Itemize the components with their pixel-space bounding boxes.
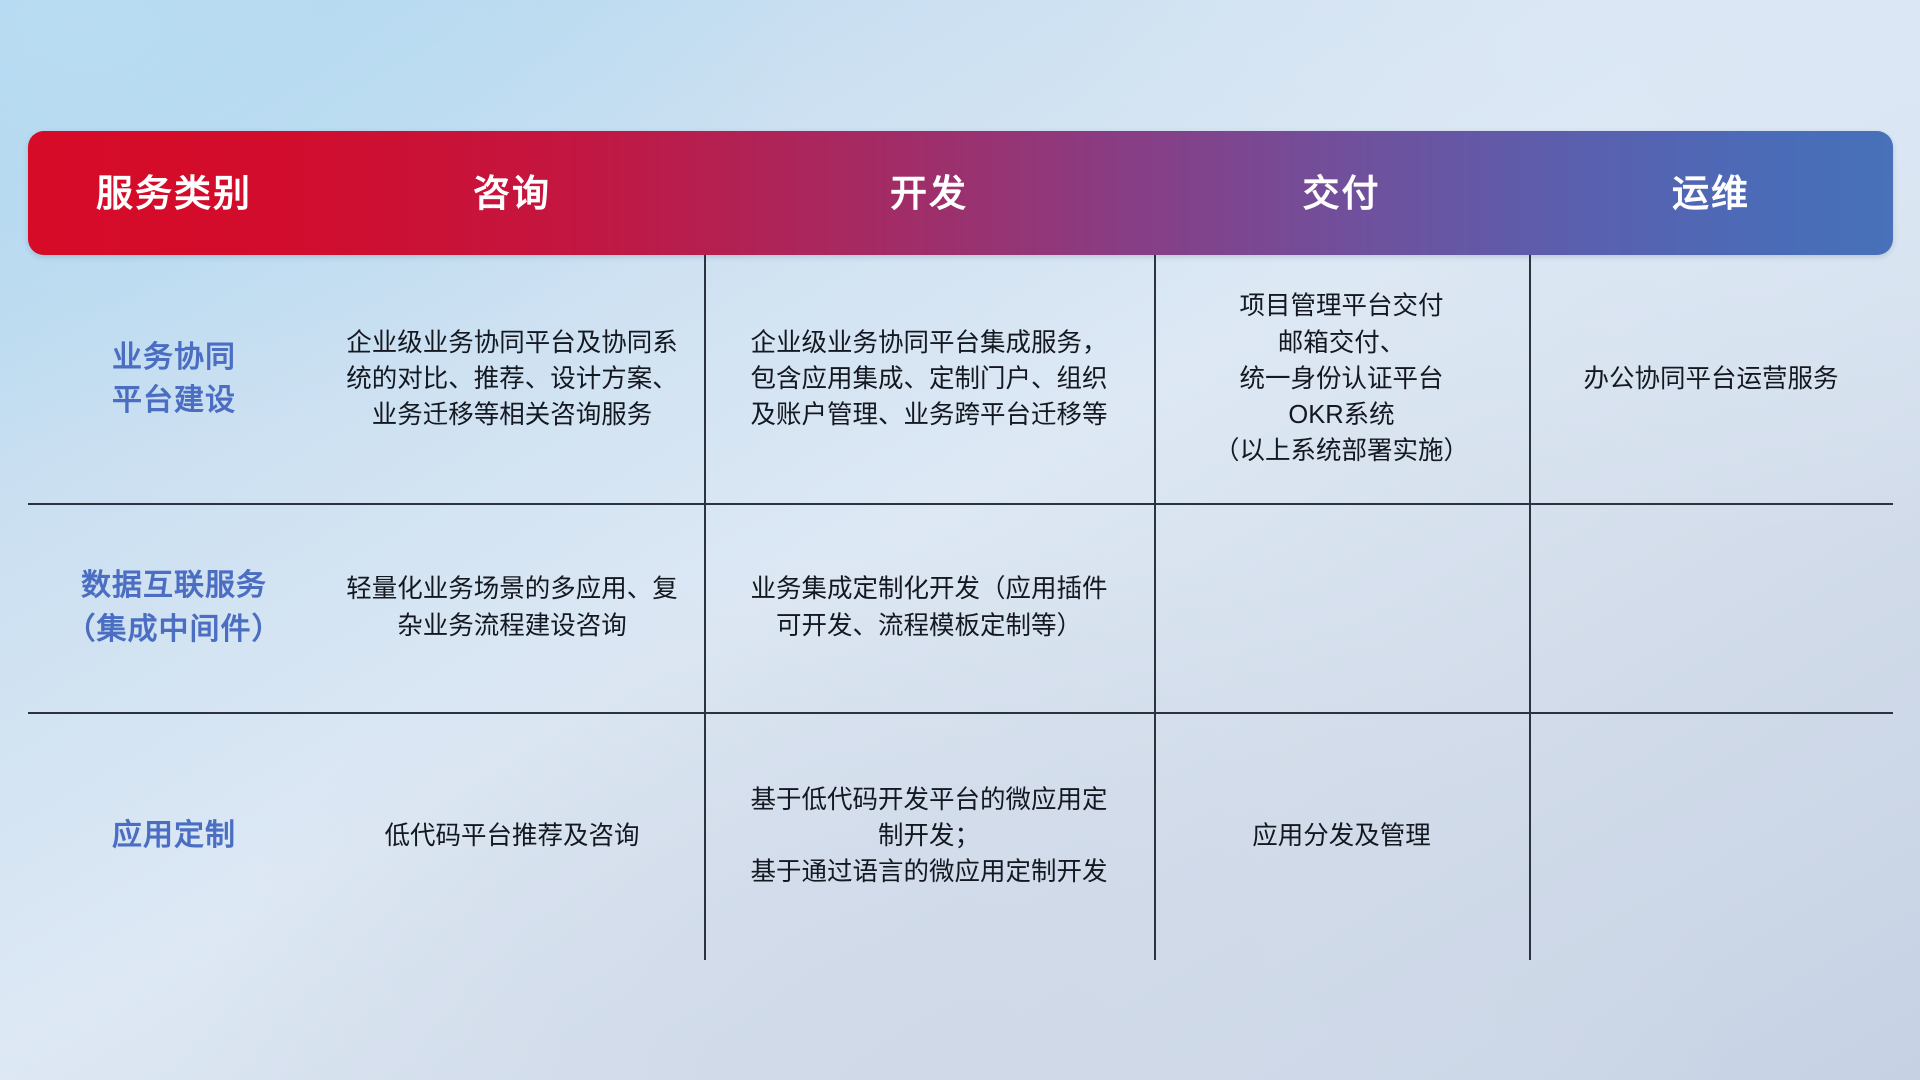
cell-r2-delivery — [1154, 503, 1529, 712]
table-row: 应用定制 低代码平台推荐及咨询 基于低代码开发平台的微应用定 制开发； 基于通过… — [28, 712, 1893, 960]
row-label-data-integration: 数据互联服务 （集成中间件） — [28, 503, 320, 712]
column-header-consulting: 咨询 — [320, 175, 704, 212]
cell-r1-operations: 办公协同平台运营服务 — [1529, 255, 1893, 503]
service-matrix-table: 服务类别 咨询 开发 交付 运维 业务协同 平台建设 企业级业务协同平台及协同系… — [28, 131, 1893, 960]
row-label-business-collaboration: 业务协同 平台建设 — [28, 255, 320, 503]
cell-r1-delivery: 项目管理平台交付 邮箱交付、 统一身份认证平台 OKR系统 （以上系统部署实施） — [1154, 255, 1529, 503]
cell-r1-consulting: 企业级业务协同平台及协同系 统的对比、推荐、设计方案、 业务迁移等相关咨询服务 — [320, 255, 704, 503]
table-body: 业务协同 平台建设 企业级业务协同平台及协同系 统的对比、推荐、设计方案、 业务… — [28, 255, 1893, 960]
cell-r2-operations — [1529, 503, 1893, 712]
cell-r3-operations — [1529, 712, 1893, 960]
cell-r3-development: 基于低代码开发平台的微应用定 制开发； 基于通过语言的微应用定制开发 — [704, 712, 1154, 960]
cell-r1-development: 企业级业务协同平台集成服务， 包含应用集成、定制门户、组织 及账户管理、业务跨平… — [704, 255, 1154, 503]
cell-r2-consulting: 轻量化业务场景的多应用、复 杂业务流程建设咨询 — [320, 503, 704, 712]
table-header-row: 服务类别 咨询 开发 交付 运维 — [28, 131, 1893, 255]
table-row: 业务协同 平台建设 企业级业务协同平台及协同系 统的对比、推荐、设计方案、 业务… — [28, 255, 1893, 503]
slide-canvas: 服务类别 咨询 开发 交付 运维 业务协同 平台建设 企业级业务协同平台及协同系… — [0, 0, 1920, 1080]
table-row: 数据互联服务 （集成中间件） 轻量化业务场景的多应用、复 杂业务流程建设咨询 业… — [28, 503, 1893, 712]
cell-r2-development: 业务集成定制化开发（应用插件 可开发、流程模板定制等） — [704, 503, 1154, 712]
column-header-delivery: 交付 — [1154, 175, 1529, 212]
column-header-operations: 运维 — [1529, 175, 1893, 212]
cell-r3-delivery: 应用分发及管理 — [1154, 712, 1529, 960]
column-header-service-category: 服务类别 — [28, 175, 320, 212]
column-header-development: 开发 — [704, 175, 1154, 212]
cell-r3-consulting: 低代码平台推荐及咨询 — [320, 712, 704, 960]
row-label-app-customization: 应用定制 — [28, 712, 320, 960]
